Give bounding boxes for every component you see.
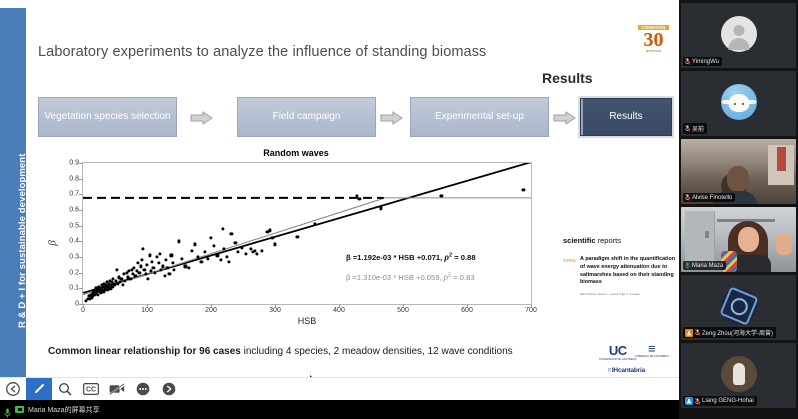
scientific-reports-masthead: scientific reports [563, 236, 679, 245]
chart-x-tick-mark [147, 304, 148, 308]
participant-name-badge: Liang GENG-Hohai [683, 396, 757, 406]
chart-x-tick-mark [531, 304, 532, 308]
muted-mic-icon [695, 398, 700, 405]
slide-side-band: R & D + I for sustainable development [0, 8, 26, 383]
microphone-icon [4, 405, 11, 415]
chart-x-tick-label: 700 [525, 307, 537, 314]
participant-name-badge: YimingWu [683, 57, 722, 66]
participant-name: Maria Maza [692, 263, 723, 269]
participant-name-badge: Alvise Finotello [683, 193, 735, 202]
chart-x-tick-mark [275, 304, 276, 308]
participant-name-badge: 吴前 [683, 123, 707, 134]
participant-tile-active-speaker[interactable]: Maria Maza [681, 207, 796, 272]
presentation-slide: R & D + I for sustainable development CO… [0, 8, 679, 383]
chart-x-tick-mark [211, 304, 212, 308]
scientific-reports-thumbnail: scientific reports OPEN A paradigm shift… [563, 236, 679, 245]
slide-title: Laboratory experiments to analyze the in… [38, 44, 486, 60]
flow-arrow-2-icon [380, 111, 403, 125]
chart-y-tick-label: 0.8 [69, 175, 79, 182]
gobierno-cantabria-logo: ≡ GOBIERNO DE CANTABRIA [635, 342, 669, 358]
avatar [721, 16, 757, 52]
svg-text:CC: CC [86, 387, 96, 394]
shared-screen-area[interactable]: R & D + I for sustainable development CO… [0, 0, 679, 400]
forward-arrow-icon[interactable] [156, 378, 182, 401]
screen-share-status-bar: Maria Maza的屏幕共享 [0, 400, 679, 419]
flow-step-experimental-setup: Experimental set-up [410, 97, 549, 137]
cohesion-logo: COHESION 30 aniversario [638, 25, 669, 55]
participant-tile[interactable]: Alvise Finotello [681, 139, 796, 204]
scatter-chart: Random waves β 00.10.20.30.40.50.60.70.8… [46, 148, 546, 338]
chart-y-tick-label: 0.9 [69, 160, 79, 167]
screen-share-icon [15, 406, 24, 413]
chart-x-tick-label: 200 [205, 307, 217, 314]
process-flow-diagram: Vegetation species selection Field campa… [38, 97, 658, 137]
sci-head-bold: scientific [563, 236, 596, 245]
chart-x-tick-mark [339, 304, 340, 308]
cohost-badge-icon [685, 397, 693, 405]
participant-name: 吴前 [692, 124, 704, 133]
participant-name: YimingWu [692, 59, 719, 65]
chart-y-tick-label: 0.3 [69, 254, 79, 261]
flow-step-vegetation-species-selection: Vegetation species selection [38, 97, 177, 137]
stop-video-icon[interactable] [104, 378, 130, 401]
pen-icon[interactable] [26, 378, 52, 401]
sci-head-rest: reports [596, 236, 621, 245]
chart-y-tick-label: 0.1 [69, 285, 79, 292]
uc-logo-text: UC [599, 343, 636, 358]
chart-x-tick-mark [403, 304, 404, 308]
eq-black-post: = 0.88 [452, 253, 475, 262]
avatar [721, 288, 757, 324]
participant-name-badge: Zeng Zhou(河海大学-周曾) [683, 327, 776, 338]
muted-mic-icon [685, 125, 690, 132]
cohesion-logo-sub: aniversario [638, 50, 669, 53]
participant-tile[interactable]: YimingWu [681, 3, 796, 68]
participant-name: Alvise Finotello [692, 195, 732, 201]
zoom-meeting-window: R & D + I for sustainable development CO… [0, 0, 798, 419]
caption-rest: including 4 species, 2 meadow densities,… [241, 346, 513, 357]
participant-name: Zeng Zhou(河海大学-周曾) [702, 328, 773, 337]
chart-x-axis-label: HSB [82, 316, 532, 326]
search-icon[interactable] [52, 378, 78, 401]
paper-authors: María Maza, Javier L. Lara & Iñigo J. Lo… [580, 292, 640, 296]
participant-video-strip[interactable]: YimingWu 吴前 [679, 0, 798, 419]
gobierno-logo-glyph: ≡ [635, 342, 669, 355]
flow-step-field-campaign: Field campaign [237, 97, 376, 137]
eq-gray-pre: β =1.310e-03 * HSB +0.059, [346, 273, 444, 282]
chart-equation-black: β =1.192e-03 * HSB +0.071, ρ2 = 0.88 [346, 252, 476, 262]
slide-content: COHESION 30 aniversario Laboratory exper… [26, 8, 679, 383]
paper-title: A paradigm shift in the quantification o… [580, 256, 679, 287]
universidad-cantabria-logo: UC UNIVERSIDAD DE CANTABRIA [599, 343, 636, 361]
muted-mic-icon [685, 58, 690, 65]
uc-logo-sub: UNIVERSIDAD DE CANTABRIA [599, 358, 636, 361]
chart-plot-area: 00.10.20.30.40.50.60.70.80.9010020030040… [82, 162, 532, 305]
chart-lines [83, 163, 531, 304]
chart-x-tick-label: 100 [141, 307, 153, 314]
muted-mic-icon [695, 329, 700, 336]
avatar [721, 84, 757, 120]
eq-gray-post: = 0.83 [451, 273, 474, 282]
chart-fit-line [83, 198, 384, 294]
cohesion-logo-number: 30 [638, 30, 669, 50]
closed-caption-icon[interactable]: CC [78, 378, 104, 401]
chart-y-tick-label: 0.6 [69, 207, 79, 214]
participant-tile[interactable]: Zeng Zhou(河海大学-周曾) [681, 275, 796, 340]
chart-x-tick-label: 300 [269, 307, 281, 314]
open-access-badge: OPEN [563, 258, 576, 263]
strip-empty-space [681, 411, 796, 416]
screen-share-status-text: Maria Maza的屏幕共享 [28, 405, 100, 415]
chart-x-tick-label: 0 [81, 307, 85, 314]
chart-y-tick-label: 0.5 [69, 222, 79, 229]
chart-x-tick-label: 600 [461, 307, 473, 314]
slide-caption: Common linear relationship for 96 cases … [48, 346, 648, 357]
flow-step-results-highlighted: Results [580, 98, 672, 136]
ihcantabria-text: IHcantabria [612, 367, 645, 374]
back-arrow-icon[interactable] [0, 378, 26, 401]
chart-y-tick-label: 0.7 [69, 191, 79, 198]
more-icon[interactable] [130, 378, 156, 401]
chart-y-tick-label: 0.2 [69, 269, 79, 276]
gobierno-logo-sub: GOBIERNO DE CANTABRIA [635, 355, 669, 358]
participant-tile[interactable]: Liang GENG-Hohai [681, 343, 796, 408]
host-badge-icon [685, 329, 693, 337]
participant-tile[interactable]: 吴前 [681, 71, 796, 136]
muted-mic-icon [685, 194, 690, 201]
active-mic-icon [685, 262, 690, 269]
eq-black-pre: β =1.192e-03 * HSB +0.071, [346, 253, 444, 262]
ihcantabria-logo: ⁙IHcantabria [607, 367, 645, 374]
caption-bold: Common linear relationship for 96 cases [48, 346, 241, 357]
chart-y-tick-label: 0.4 [69, 238, 79, 245]
participant-name: Liang GENG-Hohai [702, 398, 754, 404]
annotation-toolbar[interactable]: CC [0, 377, 679, 400]
participant-name-badge: Maria Maza [683, 261, 726, 270]
chart-x-tick-mark [83, 304, 84, 308]
avatar [721, 356, 757, 392]
chart-x-tick-label: 400 [333, 307, 345, 314]
results-heading: Results [542, 70, 593, 86]
chart-title: Random waves [46, 148, 546, 158]
chart-y-axis-label: β [47, 240, 59, 245]
flow-arrow-3-icon [553, 111, 576, 125]
flow-arrow-1-icon [190, 111, 213, 125]
chart-x-tick-label: 500 [397, 307, 409, 314]
chart-equation-gray: β =1.310e-03 * HSB +0.059, ρ2 = 0.83 [346, 272, 475, 282]
chart-x-tick-mark [467, 304, 468, 308]
